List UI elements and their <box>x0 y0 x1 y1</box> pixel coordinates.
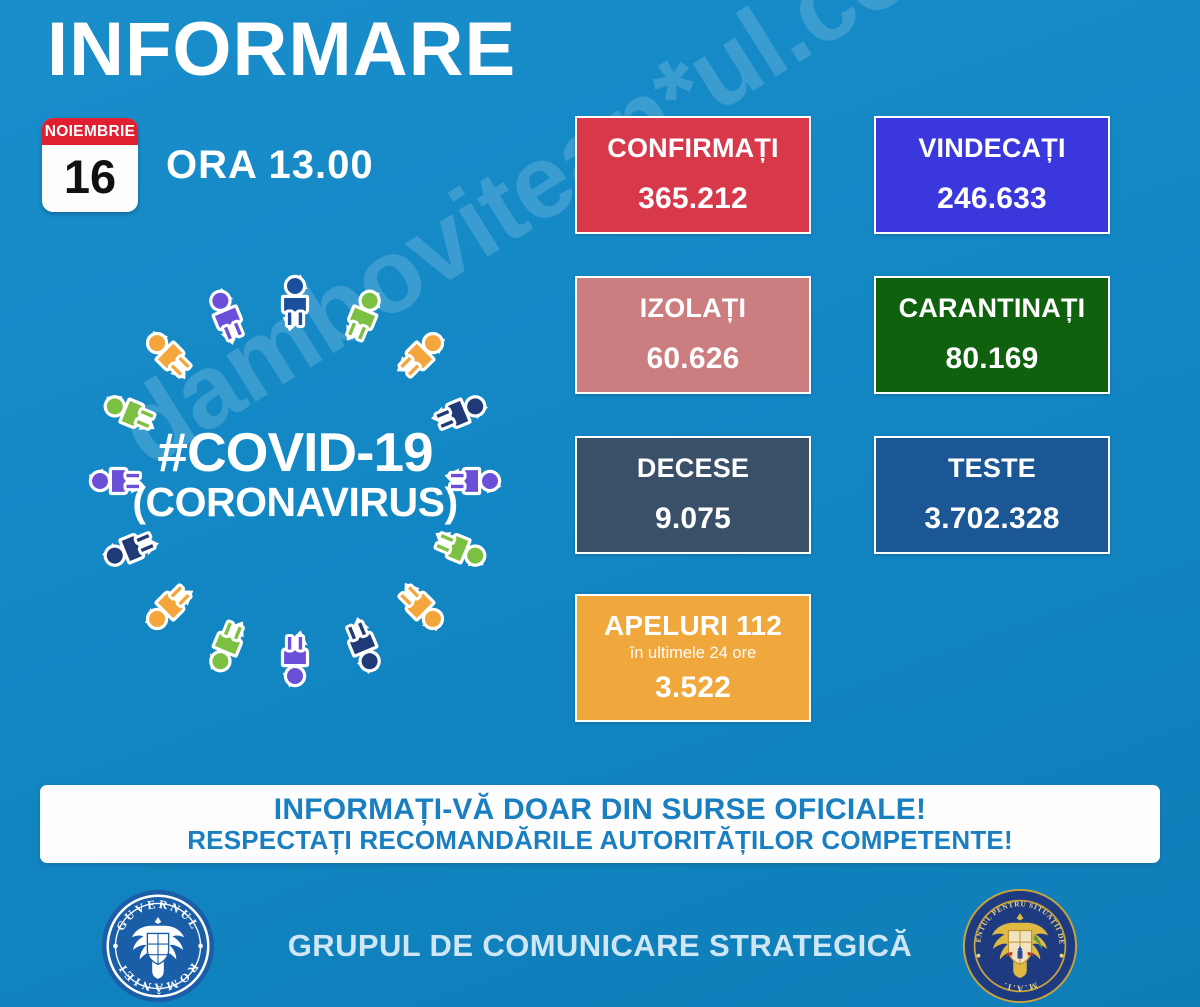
stat-label-vindecati: VINDECAȚI <box>918 134 1065 164</box>
stat-value-carantinati: 80.169 <box>946 342 1039 376</box>
footer: GUVERNUL ROMÂNIEI <box>0 884 1200 1007</box>
stat-card-apeluri: APELURI 112 în ultimele 24 ore 3.522 <box>575 594 811 722</box>
person-figure-6 <box>433 529 489 571</box>
stat-card-vindecati: VINDECAȚI 246.633 <box>874 116 1110 234</box>
dsu-mai-emblem-icon: DEPARTAMENTUL PENTRU SITUAȚII DE URGENȚĂ… <box>962 888 1078 1004</box>
stat-value-apeluri: 3.522 <box>655 671 731 705</box>
person-figure-8 <box>343 619 385 675</box>
circle-svg <box>60 246 530 716</box>
stat-card-decese: DECESE 9.075 <box>575 436 811 554</box>
person-figure-14 <box>101 391 157 433</box>
stat-label-teste: TESTE <box>948 454 1036 484</box>
hour-label: ORA 13.00 <box>166 143 374 188</box>
stat-label-carantinati: CARANTINAȚI <box>899 294 1086 324</box>
person-figure-10 <box>205 619 247 675</box>
stat-card-confirmati: CONFIRMAȚI 365.212 <box>575 116 811 234</box>
stat-card-teste: TESTE 3.702.328 <box>874 436 1110 554</box>
stat-card-izolati: IZOLAȚI 60.626 <box>575 276 811 394</box>
person-figure-4 <box>433 391 489 433</box>
person-figure-15 <box>141 327 194 380</box>
guvernul-romaniei-emblem-icon: GUVERNUL ROMÂNIEI <box>100 888 216 1004</box>
banner-line-1: INFORMAȚI-VĂ DOAR DIN SURSE OFICIALE! <box>274 793 926 827</box>
person-figure-7 <box>395 581 448 634</box>
person-figure-11 <box>141 581 194 634</box>
person-figure-2 <box>343 287 385 343</box>
person-figure-12 <box>101 529 157 571</box>
person-ring <box>90 276 499 685</box>
date-row: NOIEMBRIE 16 ORA 13.00 <box>42 118 374 212</box>
stat-label-apeluri: APELURI 112 <box>604 611 782 642</box>
stat-sublabel-apeluri: în ultimele 24 ore <box>630 644 757 663</box>
social-distancing-circle-icon: #COVID-19 (CORONAVIRUS) <box>60 246 530 716</box>
stat-label-decese: DECESE <box>637 454 749 484</box>
stat-value-confirmati: 365.212 <box>638 182 748 216</box>
stat-label-izolati: IZOLAȚI <box>640 294 746 324</box>
calendar-month-label: NOIEMBRIE <box>42 118 138 145</box>
stat-value-vindecati: 246.633 <box>937 182 1047 216</box>
official-sources-banner: INFORMAȚI-VĂ DOAR DIN SURSE OFICIALE! RE… <box>40 785 1160 863</box>
person-figure-16 <box>205 287 247 343</box>
stat-value-teste: 3.702.328 <box>924 502 1059 536</box>
page-title: INFORMARE <box>47 12 516 88</box>
infographic-canvas: dambovitean*ul.com INFORMARE NOIEMBRIE 1… <box>0 0 1200 1007</box>
stat-value-decese: 9.075 <box>655 502 731 536</box>
stat-value-izolati: 60.626 <box>647 342 740 376</box>
calendar-icon: NOIEMBRIE 16 <box>42 118 138 212</box>
stat-card-carantinati: CARANTINAȚI 80.169 <box>874 276 1110 394</box>
stat-label-confirmati: CONFIRMAȚI <box>607 134 778 164</box>
person-figure-3 <box>395 327 448 380</box>
calendar-day-label: 16 <box>42 145 138 212</box>
banner-line-2: RESPECTAȚI RECOMANDĂRILE AUTORITĂȚILOR C… <box>187 826 1013 855</box>
